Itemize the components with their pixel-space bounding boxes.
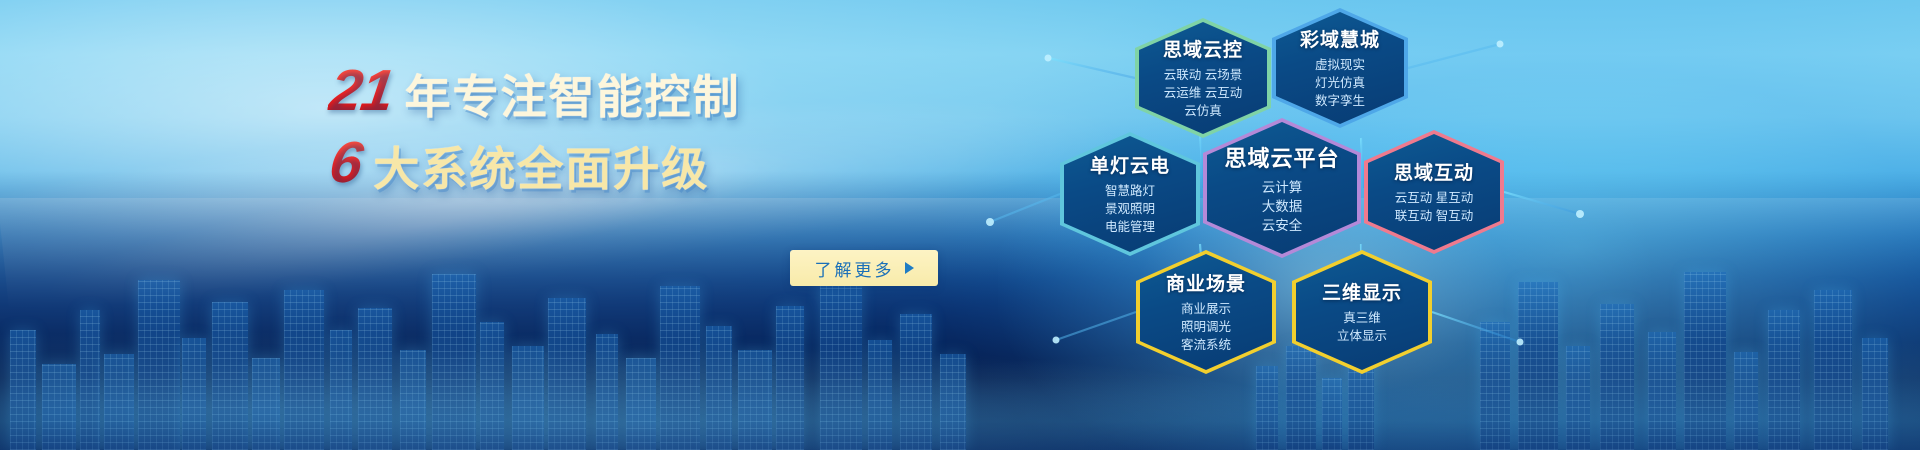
hex-title: 思域云控: [1163, 35, 1243, 62]
hex-subitem: 虚拟现实: [1315, 57, 1365, 75]
hex-subitem: 景观照明: [1105, 201, 1155, 219]
hex-subitems: 虚拟现实灯光仿真数字孪生: [1315, 57, 1365, 110]
hex-subitem: 云联动 云场景: [1164, 67, 1242, 85]
hexagon-network: 思域云控云联动 云场景云运维 云互动云仿真彩域慧城虚拟现实灯光仿真数字孪生单灯云…: [960, 0, 1920, 450]
hex-subitem: 联互动 智互动: [1395, 208, 1473, 226]
headline-line-1: 21 年专注智能控制: [330, 62, 890, 120]
headline-text-1: 年专注智能控制: [405, 74, 741, 120]
hex-title: 思域云平台: [1224, 141, 1339, 173]
hex-title: 彩域慧城: [1300, 25, 1380, 52]
headline-number-6: 6: [326, 134, 377, 192]
headline-text-2: 大系统全面升级: [373, 146, 709, 192]
hex-subitems: 云联动 云场景云运维 云互动云仿真: [1164, 67, 1242, 120]
headline-number-21: 21: [326, 62, 409, 120]
hex-title: 商业场景: [1166, 269, 1246, 296]
hex-subitem: 商业展示: [1181, 301, 1231, 319]
hex-subitem: 真三维: [1337, 310, 1387, 328]
learn-more-label: 了解更多: [815, 256, 895, 281]
hex-subitem: 照明调光: [1181, 319, 1231, 337]
hex-subitem: 大数据: [1262, 197, 1303, 216]
hex-title: 三维显示: [1322, 278, 1402, 305]
hex-subitems: 智慧路灯景观照明电能管理: [1105, 183, 1155, 236]
hex-subitem: 智慧路灯: [1105, 183, 1155, 201]
headline-block: 21 年专注智能控制 6 大系统全面升级: [330, 62, 890, 192]
hex-subitem: 电能管理: [1105, 219, 1155, 237]
hex-subitem: 客流系统: [1181, 337, 1231, 355]
hex-subitem: 灯光仿真: [1315, 75, 1365, 93]
hex-title: 单灯云电: [1090, 151, 1170, 178]
hex-subitems: 云互动 星互动联互动 智互动: [1395, 190, 1473, 226]
hex-title: 思域互动: [1394, 158, 1474, 185]
hex-subitems: 云计算大数据云安全: [1262, 178, 1303, 235]
hex-subitem: 云运维 云互动: [1164, 85, 1242, 103]
hex-subitems: 真三维立体显示: [1337, 310, 1387, 346]
hex-subitem: 云计算: [1262, 178, 1303, 197]
hex-subitem: 云仿真: [1164, 103, 1242, 121]
hex-subitem: 云互动 星互动: [1395, 190, 1473, 208]
play-triangle-icon: [905, 262, 914, 274]
headline-line-2: 6 大系统全面升级: [330, 134, 890, 192]
hex-subitem: 云安全: [1262, 216, 1303, 235]
hex-subitem: 数字孪生: [1315, 93, 1365, 111]
banner-stage: 21 年专注智能控制 6 大系统全面升级 了解更多: [0, 0, 1920, 450]
hex-subitems: 商业展示照明调光客流系统: [1181, 301, 1231, 354]
hex-subitem: 立体显示: [1337, 328, 1387, 346]
learn-more-button[interactable]: 了解更多: [790, 250, 938, 286]
